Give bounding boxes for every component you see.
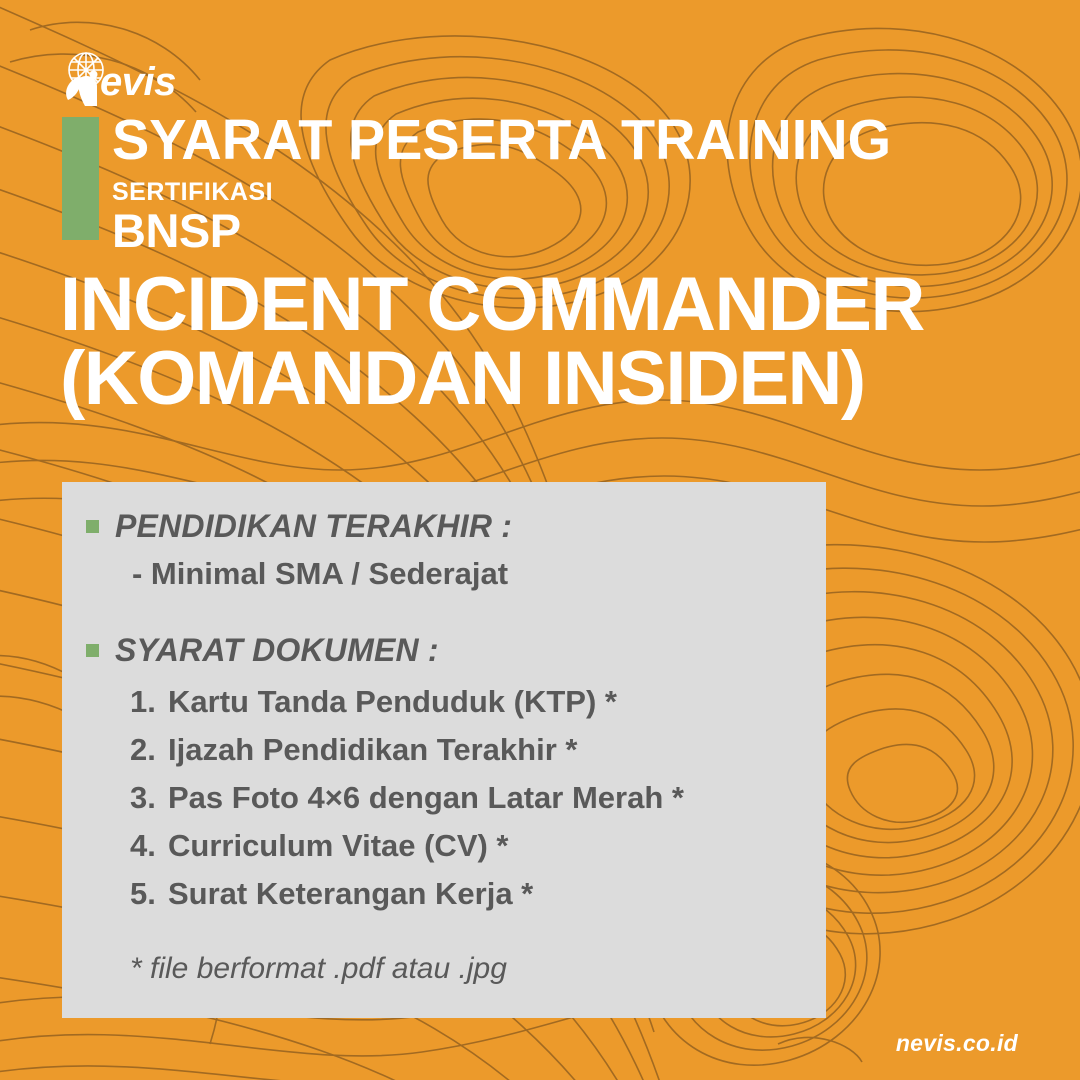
list-item-label: Kartu Tanda Penduduk (KTP) * [168,686,617,717]
website-url[interactable]: nevis.co.id [896,1030,1018,1057]
list-item-number: 4. [130,830,168,861]
section-documents: SYARAT DOKUMEN : 1. Kartu Tanda Penduduk… [86,632,796,909]
page-title-line-2: (KOMANDAN INSIDEN) [60,342,1060,416]
square-bullet-icon [86,520,99,533]
brand-logo[interactable]: evis [58,50,176,106]
section-documents-heading: SYARAT DOKUMEN : [115,632,439,669]
section-education-detail: - Minimal SMA / Sederajat [132,555,796,592]
section-education: PENDIDIKAN TERAKHIR : - Minimal SMA / Se… [86,508,796,592]
section-education-heading: PENDIDIKAN TERAKHIR : [115,508,512,545]
list-item: 2. Ijazah Pendidikan Terakhir * [130,734,796,765]
header-kicker: SYARAT PESERTA TRAINING [112,112,1023,169]
header-sertifikasi: SERTIFIKASI [112,179,1042,205]
page-title-line-1: INCIDENT COMMANDER [60,268,1060,342]
poster-canvas: evis SYARAT PESERTA TRAINING SERTIFIKASI… [0,0,1080,1080]
brand-wordmark: evis [100,62,176,102]
green-accent-bar [62,117,99,240]
file-format-footnote: * file berformat .pdf atau .jpg [130,951,796,987]
header-bnsp: BNSP [112,207,1042,254]
list-item: 5. Surat Keterangan Kerja * [130,878,796,909]
list-item-label: Pas Foto 4×6 dengan Latar Merah * [168,782,684,813]
list-item-number: 5. [130,878,168,909]
square-bullet-icon [86,644,99,657]
list-item: 3. Pas Foto 4×6 dengan Latar Merah * [130,782,796,813]
document-requirements-list: 1. Kartu Tanda Penduduk (KTP) * 2. Ijaza… [86,686,796,909]
list-item-label: Ijazah Pendidikan Terakhir * [168,734,577,765]
list-item: 1. Kartu Tanda Penduduk (KTP) * [130,686,796,717]
list-item-number: 2. [130,734,168,765]
list-item: 4. Curriculum Vitae (CV) * [130,830,796,861]
list-item-number: 3. [130,782,168,813]
header-block: SYARAT PESERTA TRAINING SERTIFIKASI BNSP [112,112,1042,254]
list-item-label: Surat Keterangan Kerja * [168,878,533,909]
list-item-number: 1. [130,686,168,717]
page-title: INCIDENT COMMANDER (KOMANDAN INSIDEN) [60,268,1060,415]
requirements-card: PENDIDIKAN TERAKHIR : - Minimal SMA / Se… [62,482,826,1018]
list-item-label: Curriculum Vitae (CV) * [168,830,509,861]
